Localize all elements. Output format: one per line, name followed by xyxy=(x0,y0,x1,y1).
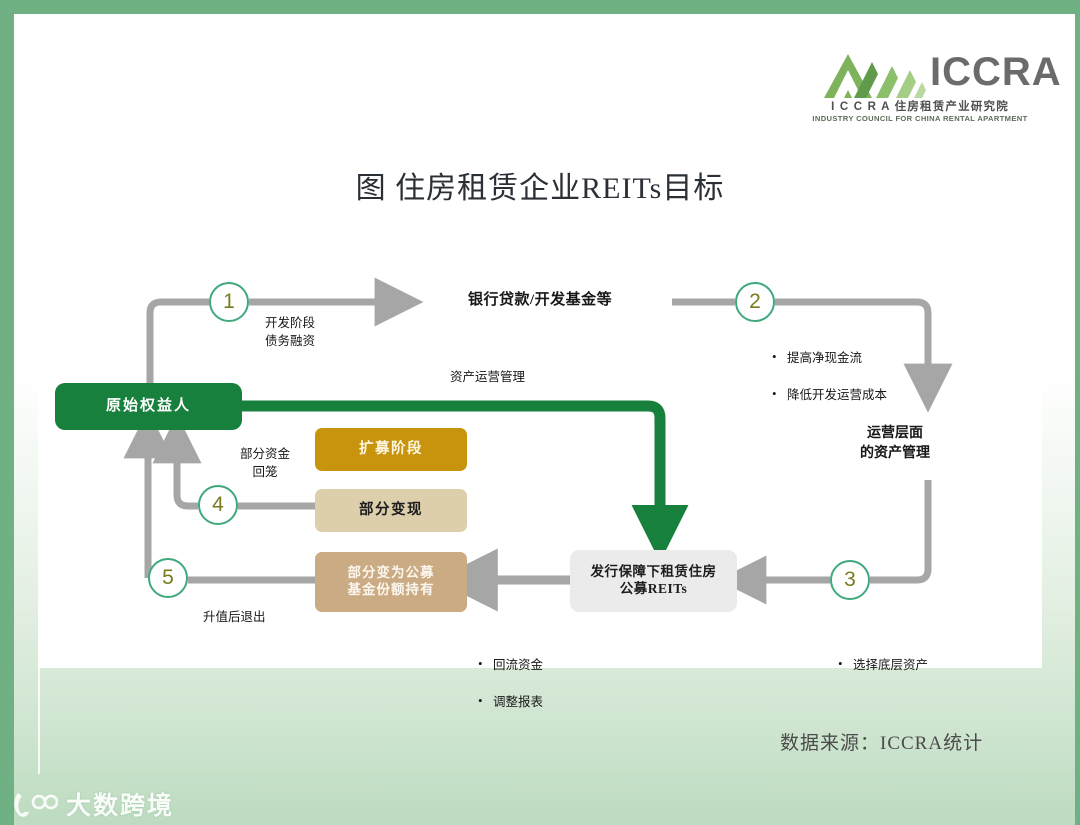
step-circle-4[interactable]: 4 xyxy=(198,485,238,525)
data-source-note: 数据来源：ICCRA统计 xyxy=(780,728,983,755)
box-fund-share-holding[interactable]: 部分变为公募 基金份额持有 xyxy=(315,552,467,612)
slide-canvas: ICCRA I C C R A 住房租赁产业研究院 INDUSTRY COUNC… xyxy=(0,0,1080,825)
bullets-reits-output: 回流资金 调整报表 xyxy=(478,620,543,747)
label-development-stage: 开发阶段 债务融资 xyxy=(265,314,315,350)
box-partial-cash-out[interactable]: 部分变现 xyxy=(315,489,467,532)
label-asset-operation: 资产运营管理 xyxy=(450,368,525,386)
label-exit-after-appreciation: 升值后退出 xyxy=(203,608,266,626)
box-expand-stage[interactable]: 扩募阶段 xyxy=(315,428,467,471)
list-item: 选择底层资产 xyxy=(838,656,928,674)
step-circle-3[interactable]: 3 xyxy=(830,560,870,600)
step-circle-5[interactable]: 5 xyxy=(148,558,188,598)
bullets-step2: 提高净现金流 降低开发运营成本 xyxy=(772,313,887,440)
list-item: 调整报表 xyxy=(478,693,543,711)
label-partial-recall: 部分资金 回笼 xyxy=(240,445,290,481)
bullets-step3: 选择底层资产 xyxy=(838,620,928,711)
box-public-reits[interactable]: 发行保障下租赁住房 公募REITs xyxy=(570,550,737,612)
watermark-text: 大数跨境 xyxy=(66,786,174,822)
watermark: 大数跨境 xyxy=(12,786,174,822)
box-originator[interactable]: 原始权益人 xyxy=(55,383,242,430)
watermark-logo-icon xyxy=(12,789,58,819)
label-bank-loan: 银行贷款/开发基金等 xyxy=(468,290,612,312)
step-circle-1[interactable]: 1 xyxy=(209,282,249,322)
list-item: 提高净现金流 xyxy=(772,349,887,367)
step-circle-2[interactable]: 2 xyxy=(735,282,775,322)
list-item: 降低开发运营成本 xyxy=(772,386,887,404)
list-item: 回流资金 xyxy=(478,656,543,674)
